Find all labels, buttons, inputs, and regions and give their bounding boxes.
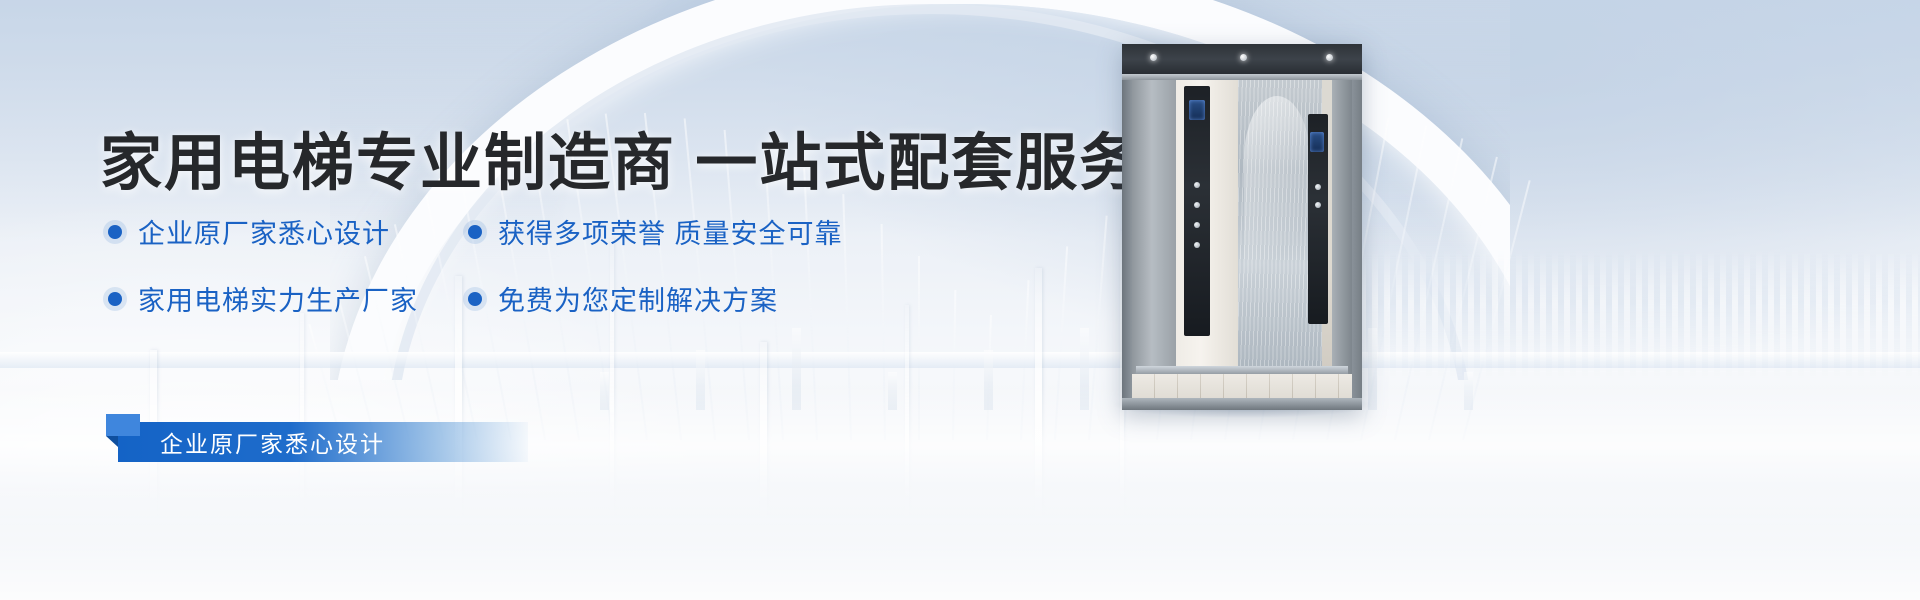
control-panel-right [1308, 114, 1328, 324]
cabin-button [1194, 202, 1200, 208]
ceiling-light-icon [1240, 54, 1247, 61]
feature-item-manufacturer: 家用电梯实力生产厂家 [108, 279, 468, 318]
cabin-button [1315, 202, 1321, 208]
feature-label: 家用电梯实力生产厂家 [138, 279, 418, 318]
ribbon-fold-icon [106, 436, 118, 447]
ribbon-banner: 企业原厂家悉心设计 [118, 422, 528, 462]
page-title: 家用电梯专业制造商 一站式配套服务 [100, 112, 1143, 202]
feature-label: 获得多项荣誉 质量安全可靠 [498, 212, 843, 251]
feature-label: 免费为您定制解决方案 [498, 279, 778, 318]
feature-row: 家用电梯实力生产厂家 免费为您定制解决方案 [108, 279, 968, 318]
feature-row: 企业原厂家悉心设计 获得多项荣誉 质量安全可靠 [108, 212, 968, 251]
cabin-button [1194, 242, 1200, 248]
ceiling-trim [1122, 74, 1362, 80]
cabin-left-wall [1132, 80, 1176, 398]
feature-item-custom: 免费为您定制解决方案 [468, 279, 778, 318]
floor-display-right [1310, 132, 1324, 152]
ribbon-tab [106, 414, 140, 436]
floor-display-left [1189, 100, 1205, 120]
cabin-button [1194, 182, 1200, 188]
bullet-dot-icon [108, 292, 122, 306]
feature-list: 企业原厂家悉心设计 获得多项荣誉 质量安全可靠 家用电梯实力生产厂家 免费为您定… [108, 212, 968, 318]
cabin-floor-tiles [1132, 374, 1352, 400]
feature-item-honors: 获得多项荣誉 质量安全可靠 [468, 212, 843, 251]
floor-sheen [0, 480, 1920, 600]
home-elevator-image [1122, 44, 1362, 410]
cabin-button [1194, 222, 1200, 228]
ceiling-light-icon [1150, 54, 1157, 61]
control-panel-left [1184, 86, 1210, 336]
elevator-ceiling [1122, 44, 1362, 78]
cabin-right-wall [1332, 80, 1352, 398]
promo-banner: 家用电梯专业制造商 一站式配套服务 企业原厂家悉心设计 获得多项荣誉 质量安全可… [0, 0, 1920, 600]
ceiling-light-icon [1326, 54, 1333, 61]
elevator-cabin [1132, 80, 1352, 398]
cabin-button [1315, 184, 1321, 190]
bullet-dot-icon [468, 292, 482, 306]
bullet-dot-icon [468, 225, 482, 239]
feature-item-design: 企业原厂家悉心设计 [108, 212, 468, 251]
bullet-dot-icon [108, 225, 122, 239]
cabin-mirror-sheen [1244, 96, 1310, 382]
elevator-base [1122, 398, 1362, 410]
ribbon-label: 企业原厂家悉心设计 [160, 422, 385, 462]
feature-label: 企业原厂家悉心设计 [138, 212, 390, 251]
